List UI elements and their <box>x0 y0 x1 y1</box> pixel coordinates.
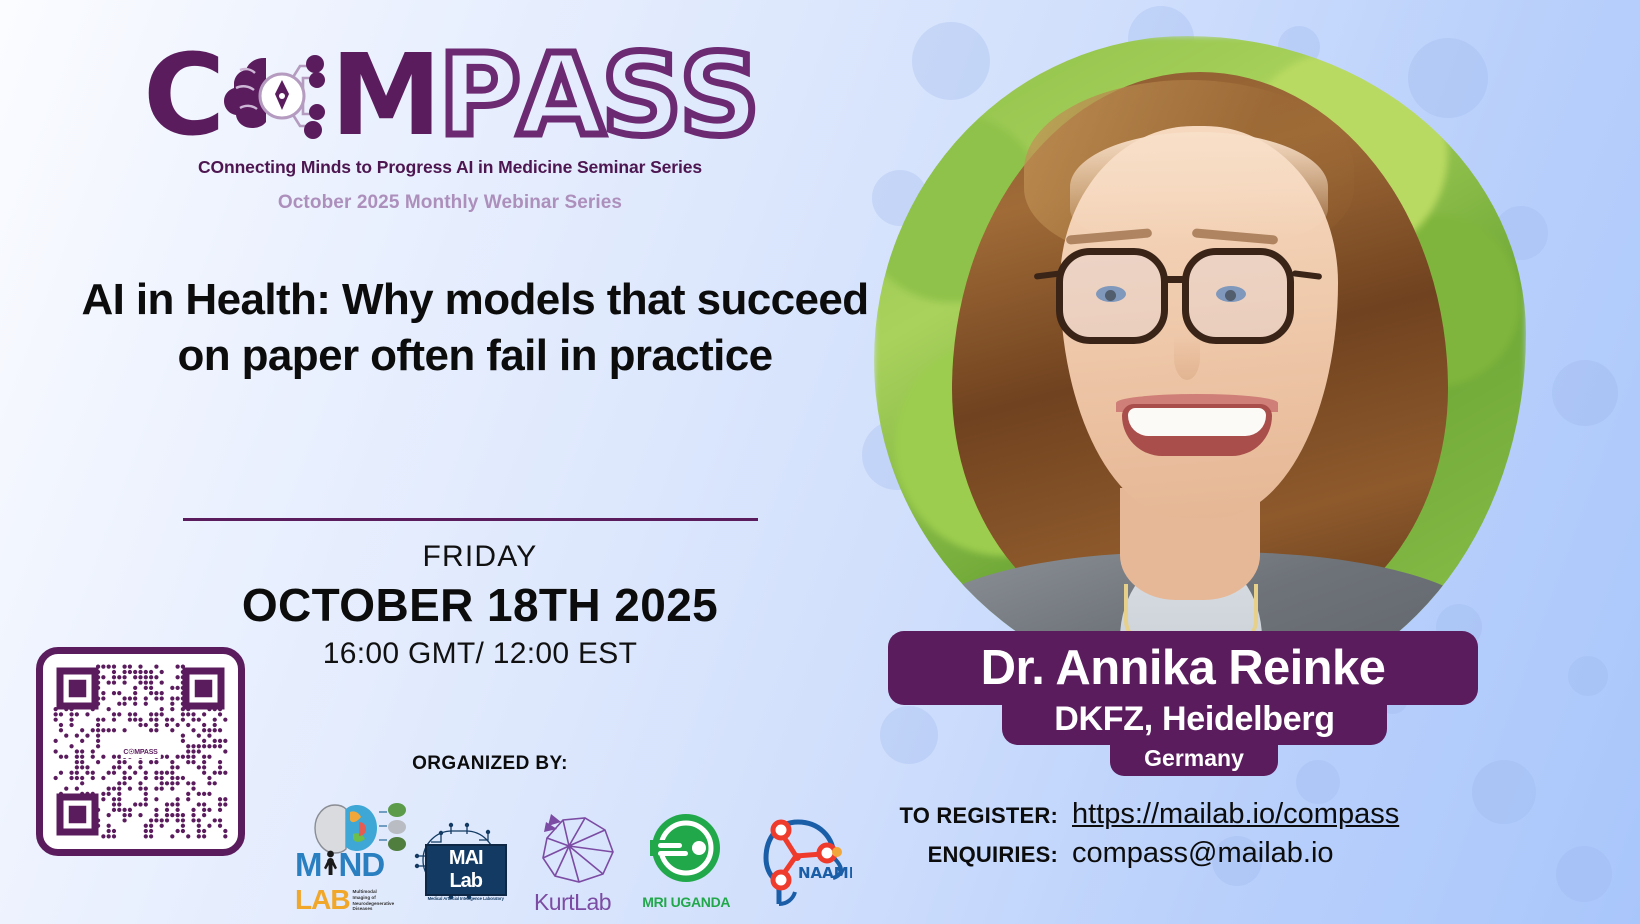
portrait-mouth <box>1122 404 1272 456</box>
event-date-block: FRIDAY OCTOBER 18TH 2025 16:00 GMT/ 12:0… <box>180 540 780 671</box>
mind-lab-m: M <box>295 846 322 884</box>
glasses-lens-left <box>1056 248 1168 344</box>
series-subtitle: October 2025 Monthly Webinar Series <box>180 192 720 214</box>
register-row: TO REGISTER: https://mailab.io/compass <box>880 798 1480 831</box>
kurtlab-label: KurtLab <box>523 889 623 916</box>
enquiries-email[interactable]: compass@mailab.io <box>1072 837 1334 870</box>
register-link[interactable]: https://mailab.io/compass <box>1072 798 1399 831</box>
logo-letter-s2: S <box>679 40 757 152</box>
qr-center-logo: C☉MPASS <box>120 746 160 758</box>
brand-tagline: COnnecting Minds to Progress AI in Medic… <box>180 157 720 178</box>
organized-by-label: ORGANIZED BY: <box>330 753 650 775</box>
register-label: TO REGISTER: <box>880 803 1058 829</box>
mai-lab-tagline: Medical Artificial Intelligence Laborato… <box>425 896 507 901</box>
mai-lab-wordmark: MAI Lab <box>425 844 507 896</box>
logo-letter-c: C <box>143 40 222 152</box>
glasses-lens-right <box>1182 248 1294 344</box>
mind-lab-lab: LAB <box>295 884 350 916</box>
event-date: OCTOBER 18TH 2025 <box>180 578 780 632</box>
speaker-name: Dr. Annika Reinke <box>888 631 1478 705</box>
qr-canvas: C☉MPASS <box>53 664 228 839</box>
mind-lab-nd: ND <box>339 846 385 884</box>
logo-letter-s1: S <box>602 40 680 152</box>
head-network-icon: NAAMII <box>752 812 852 912</box>
enquiries-label: ENQUIRIES: <box>880 842 1058 868</box>
polygon-brain-icon <box>529 812 619 886</box>
mri-uganda-label: MRI UGANDA <box>636 894 736 910</box>
qr-code[interactable]: C☉MPASS <box>36 647 245 856</box>
svg-text:NAAMII: NAAMII <box>798 864 852 882</box>
portrait-nose <box>1174 336 1200 380</box>
glasses-bridge <box>1165 276 1185 283</box>
organizer-mai-lab: MAI Lab Medical Artificial Intelligence … <box>409 798 509 916</box>
section-divider <box>183 518 758 521</box>
event-time: 16:00 GMT/ 12:00 EST <box>180 637 780 671</box>
talk-title: AI in Health: Why models that succeed on… <box>80 272 870 385</box>
logo-letter-a: A <box>518 40 602 152</box>
logo-letter-m: M <box>330 40 438 152</box>
brain-compass-icon <box>220 44 332 148</box>
mind-person-icon <box>323 850 338 876</box>
left-panel: C <box>0 0 880 924</box>
mind-lab-tagline: Multimodal Imaging of Neurodegenerative … <box>353 889 395 912</box>
organizer-logos: M ND LAB Multimodal Imaging of Neurodege… <box>295 786 850 916</box>
green-scanner-icon <box>644 810 728 888</box>
organizer-kurtlab: KurtLab <box>523 798 623 916</box>
portrait-teeth <box>1128 408 1266 436</box>
contact-block: TO REGISTER: https://mailab.io/compass E… <box>880 798 1480 876</box>
organizer-mind-lab: M ND LAB Multimodal Imaging of Neurodege… <box>295 798 395 916</box>
enquiries-row: ENQUIRIES: compass@mailab.io <box>880 837 1480 870</box>
compass-logo: C <box>180 44 720 214</box>
event-day: FRIDAY <box>180 540 780 574</box>
logo-letter-p: P <box>439 40 518 152</box>
speaker-photo <box>874 36 1526 698</box>
organizer-naamii: NAAMII NAAMII <box>750 798 850 916</box>
logo-lettering: C <box>180 44 720 148</box>
speaker-country: Germany <box>1110 740 1278 776</box>
portrait-forehead <box>1070 132 1328 242</box>
organizer-mri-uganda: MRI UGANDA <box>636 798 736 916</box>
